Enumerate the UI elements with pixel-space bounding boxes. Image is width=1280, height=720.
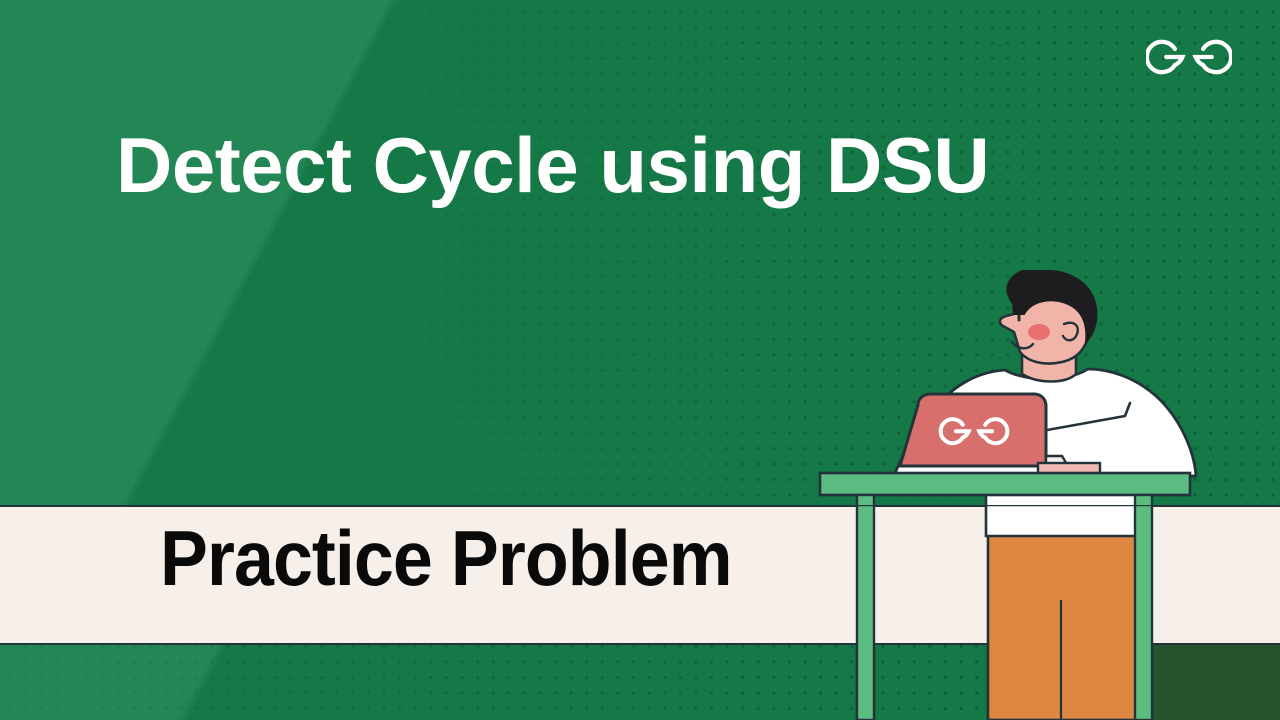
cheek-blush <box>1028 324 1050 340</box>
geeksforgeeks-logo-icon[interactable] <box>1146 35 1232 79</box>
practice-problem-label: Practice Problem <box>160 519 732 597</box>
desk-top-surface <box>820 473 1190 495</box>
person-at-desk-with-laptop-illustration <box>800 270 1240 720</box>
slide-canvas: Detect Cycle using DSU <box>0 0 1280 720</box>
page-title: Detect Cycle using DSU <box>116 126 1196 204</box>
laptop-lid <box>900 394 1046 466</box>
